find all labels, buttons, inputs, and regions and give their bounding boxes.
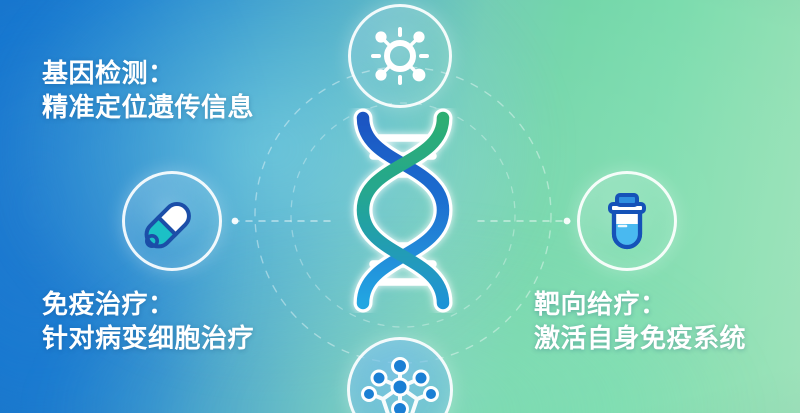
label-immunotherapy: 免疫治疗： 针对病变细胞治疗 [42,287,254,356]
cell-molecule-icon[interactable] [348,4,452,108]
label-targeted-therapy-line2: 激活自身免疫系统 [534,321,746,355]
label-gene-testing-line2: 精准定位遗传信息 [42,90,254,124]
dna-double-helix [333,108,473,313]
label-immunotherapy-line1: 免疫治疗： [42,287,254,321]
test-tube-icon[interactable] [577,171,677,271]
test-tube-glyph [596,190,658,252]
label-immunotherapy-line2: 针对病变细胞治疗 [42,321,254,355]
capsule-pill-glyph [139,188,205,254]
connector-dot-right [564,218,571,225]
label-targeted-therapy-line1: 靶向给疗： [534,287,746,321]
molecular-network-glyph [357,347,443,413]
label-targeted-therapy: 靶向给疗： 激活自身免疫系统 [534,287,746,356]
capsule-pill-icon[interactable] [122,171,222,271]
cell-molecule-glyph [365,21,435,91]
label-gene-testing-line1: 基因检测： [42,56,254,90]
label-gene-testing: 基因检测： 精准定位遗传信息 [42,56,254,125]
molecular-network-icon[interactable] [347,337,453,413]
connector-dot-left [232,218,239,225]
infographic-canvas: 基因检测： 精准定位遗传信息 免疫治疗： 针对病变细胞治疗 靶向给疗： 激活自身… [0,0,800,413]
